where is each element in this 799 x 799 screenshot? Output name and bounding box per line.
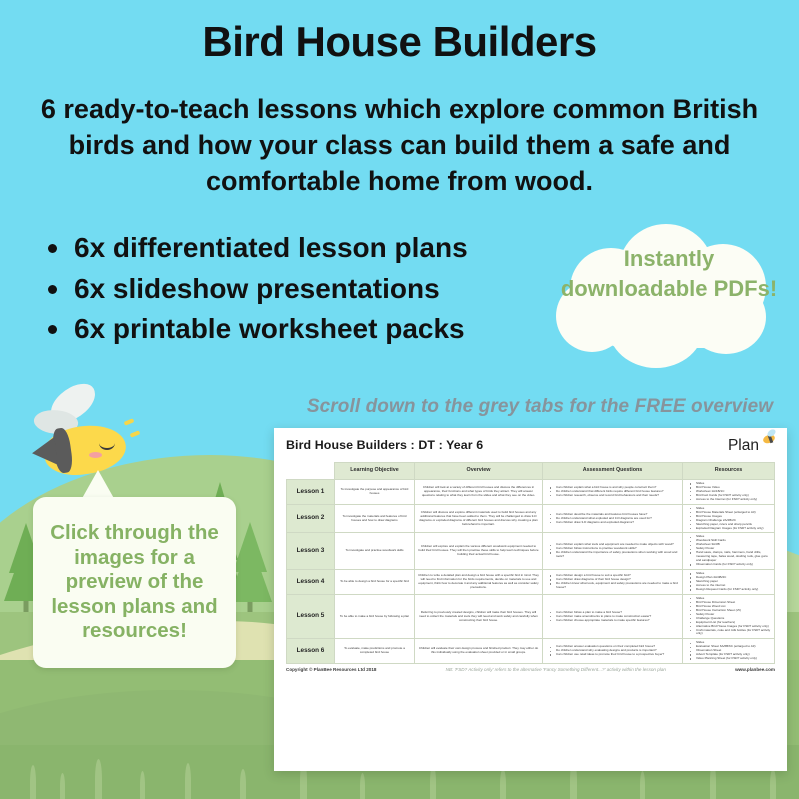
column-header-overview: Overview [415,463,543,480]
table-corner-cell [287,463,335,480]
planbee-logo: PlanBee [728,438,775,454]
cell-overview: Children to write a detailed plan and de… [415,570,543,595]
cell-assessment-questions: Can children describe the materials and … [543,504,683,533]
cell-assessment-questions: Can children design a bird house to suit… [543,570,683,595]
cell-resources: SlidesEvaluation Sheet 6A/6B/6C (enlarge… [683,639,775,664]
lesson-label: Lesson 4 [287,570,335,595]
page-title: Bird House Builders [0,18,799,66]
cell-resources: SlidesBird House Materials Sheet (enlarg… [683,504,775,533]
footer-url: www.planbee.com [735,667,775,672]
document-footer: Copyright © PlanBee Resources Ltd 2018 N… [286,667,775,672]
cell-learning-objective: To investigate and practise woodwork ski… [335,533,415,570]
promo-graphic: Bird House Builders 6 ready-to-teach les… [0,0,799,799]
cell-assessment-questions: Can children explain what a bird house i… [543,480,683,505]
cloud-badge: Instantly downloadable PDFs! [556,218,782,370]
list-item: 6x slideshow presentations [48,269,548,310]
cell-learning-objective: To investigate the purpose and appearanc… [335,480,415,505]
column-header-learning-objective: Learning Objective [335,463,415,480]
cell-resources: SlidesDesign Plan 4A/4B/4CSketching pape… [683,570,775,595]
logo-plan-text: Plan [728,437,759,454]
cell-learning-objective: To be able to design a bird house for a … [335,570,415,595]
table-row: Lesson 6To evaluate, make predictions an… [287,639,775,664]
lesson-label: Lesson 6 [287,639,335,664]
column-header-assessment-questions: Assessment Questions [543,463,683,480]
cell-assessment-questions: Can children answer evaluation questions… [543,639,683,664]
footer-note: NB: 'FSD? Activity only' refers to the a… [376,667,735,672]
table-row: Lesson 3To investigate and practise wood… [287,533,775,570]
bee-icon [26,386,144,478]
cell-resources: SlidesWoodwork Skill CardsWorksheet 3A/3… [683,533,775,570]
table-row: Lesson 2To investigate the materials and… [287,504,775,533]
cell-overview: Referring to previously created designs,… [415,594,543,639]
table-row: Lesson 1To investigate the purpose and a… [287,480,775,505]
document-preview[interactable]: Bird House Builders : DT : Year 6 PlanBe… [274,428,787,771]
cell-overview: Children will discuss and explore differ… [415,504,543,533]
cell-learning-objective: To investigate the materials and feature… [335,504,415,533]
table-row: Lesson 5To be able to make a bird house … [287,594,775,639]
cell-overview: Children will look at a variety of diffe… [415,480,543,505]
cell-resources: SlidesBird House Dimension SheetBird Hou… [683,594,775,639]
table-header-row: Learning Objective Overview Assessment Q… [287,463,775,480]
column-header-resources: Resources [683,463,775,480]
page-subtitle: 6 ready-to-teach lessons which explore c… [40,92,759,200]
feature-list: 6x differentiated lesson plans 6x slides… [22,228,548,350]
lesson-label: Lesson 5 [287,594,335,639]
footer-copyright: Copyright © PlanBee Resources Ltd 2018 [286,667,376,672]
cell-overview: Children will explore and explain the va… [415,533,543,570]
lesson-label: Lesson 1 [287,480,335,505]
cell-overview: Children will evaluate their own design … [415,639,543,664]
lesson-label: Lesson 2 [287,504,335,533]
cell-learning-objective: To evaluate, make predictions and promot… [335,639,415,664]
table-body: Lesson 1To investigate the purpose and a… [287,480,775,664]
lesson-overview-table: Learning Objective Overview Assessment Q… [286,462,775,664]
logo-bee-icon [761,431,777,443]
document-header: Bird House Builders : DT : Year 6 PlanBe… [286,438,775,460]
scroll-down-caption: Scroll down to the grey tabs for the FRE… [290,396,790,418]
click-through-text: Click through the images for a preview o… [43,521,226,644]
list-item: 6x printable worksheet packs [48,309,548,350]
lesson-label: Lesson 3 [287,533,335,570]
cell-assessment-questions: Can children explain what tools and equi… [543,533,683,570]
document-title: Bird House Builders : DT : Year 6 [286,438,483,452]
cell-learning-objective: To be able to make a bird house by follo… [335,594,415,639]
cloud-badge-text: Instantly downloadable PDFs! [556,244,782,305]
table-row: Lesson 4To be able to design a bird hous… [287,570,775,595]
click-through-callout[interactable]: Click through the images for a preview o… [33,497,236,668]
cell-assessment-questions: Can children follow a plan to make a bir… [543,594,683,639]
list-item: 6x differentiated lesson plans [48,228,548,269]
cell-resources: SlidesBird House VideoWorksheet 1A/1B/1C… [683,480,775,505]
